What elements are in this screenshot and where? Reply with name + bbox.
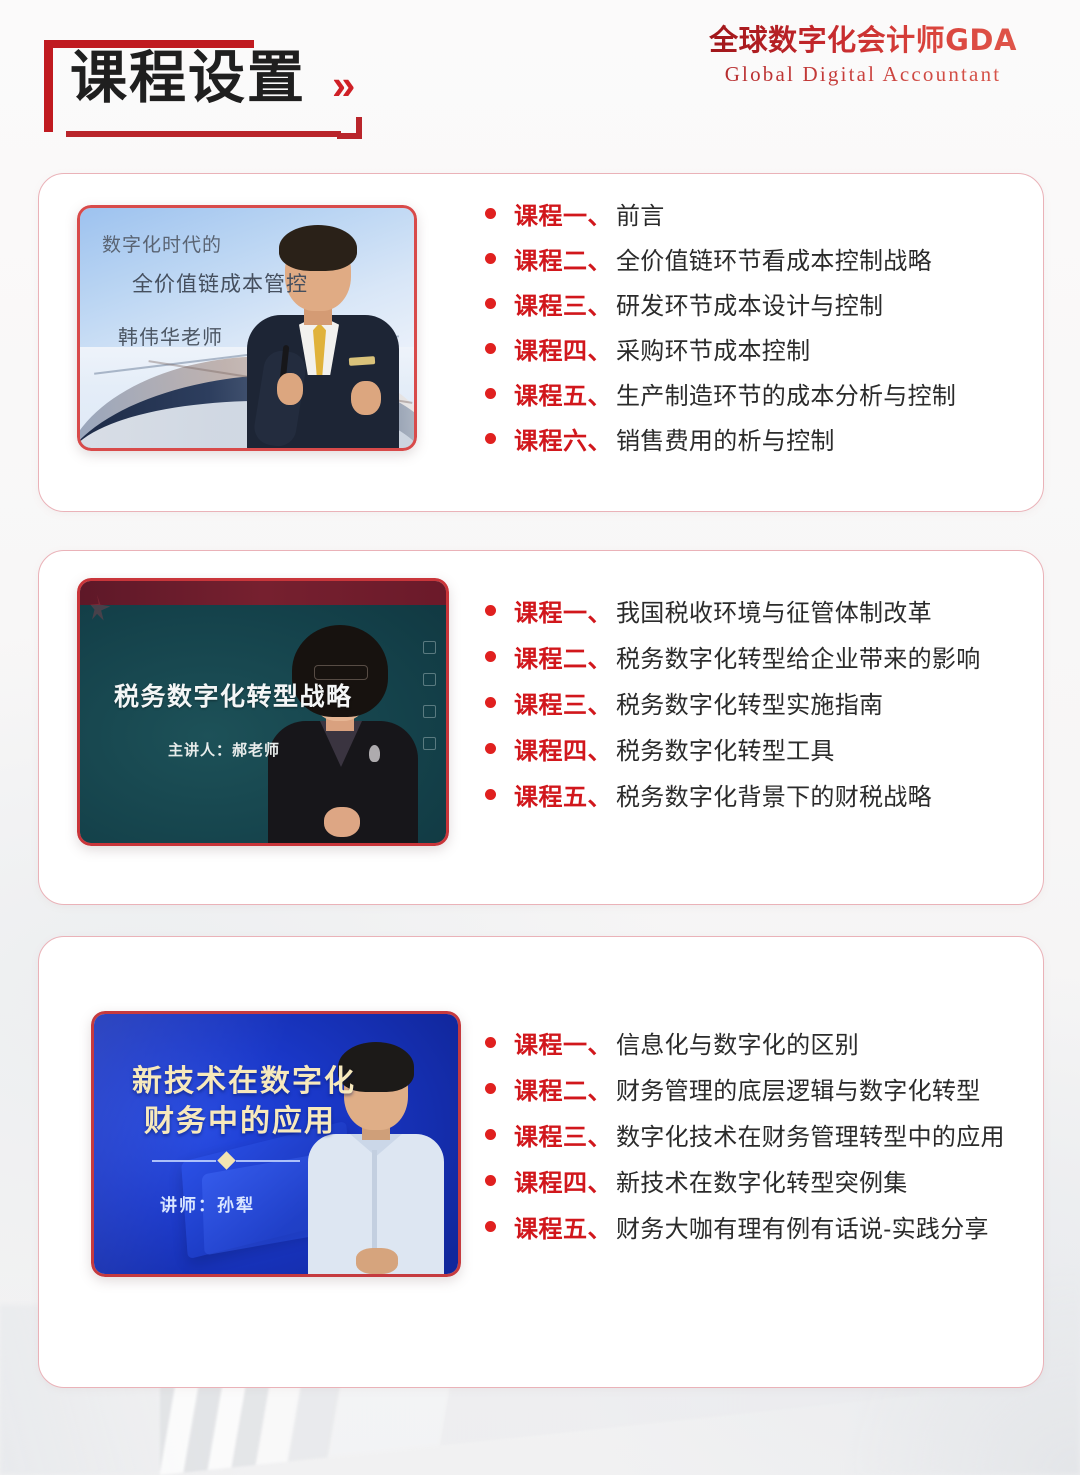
thumb2-title: 税务数字化转型战略 <box>114 677 353 713</box>
thumb3-instructor: 讲师：孙犁 <box>160 1191 255 1216</box>
course-text: 前言 <box>616 196 665 231</box>
page-title: 课程设置 <box>70 50 306 107</box>
list-item[interactable]: 课程二、 全价值链环节看成本控制战略 <box>485 241 956 286</box>
course-text: 生产制造环节的成本分析与控制 <box>616 376 956 411</box>
course-text: 税务数字化转型实施指南 <box>616 685 883 720</box>
bullet-icon <box>485 343 496 354</box>
list-item[interactable]: 课程一、 我国税收环境与征管体制改革 <box>485 593 981 639</box>
thumb1-title-line2: 全价值链成本管控 <box>132 268 308 298</box>
list-item[interactable]: 课程三、 税务数字化转型实施指南 <box>485 685 981 731</box>
list-item[interactable]: 课程五、 财务大咖有理有例有话说-实践分享 <box>485 1209 1005 1255</box>
course-label: 课程三、 <box>514 286 616 321</box>
course-card-1[interactable]: 数字化时代的 全价值链成本管控 韩伟华老师 课程一、 前言 课程二、 全价值链环… <box>38 173 1044 512</box>
course-text: 全价值链环节看成本控制战略 <box>616 241 932 276</box>
instructor-photo-2 <box>268 625 418 843</box>
course-label: 课程一、 <box>514 196 616 231</box>
bracket-top-left-vertical <box>44 40 53 132</box>
bullet-icon <box>485 253 496 264</box>
list-item[interactable]: 课程一、 信息化与数字化的区别 <box>485 1025 1005 1071</box>
thumb2-instructor: 主讲人：郝老师 <box>168 739 280 760</box>
course-text: 税务数字化背景下的财税战略 <box>616 777 932 812</box>
thumb2-side-icons <box>423 641 437 751</box>
course-label: 课程二、 <box>514 241 616 276</box>
list-item[interactable]: 课程一、 前言 <box>485 196 956 241</box>
list-item[interactable]: 课程四、 采购环节成本控制 <box>485 331 956 376</box>
list-item[interactable]: 课程二、 财务管理的底层逻辑与数字化转型 <box>485 1071 1005 1117</box>
brand-lockup: 全球数字化会计师GDA Global Digital Accountant <box>698 22 1028 87</box>
course-label: 课程六、 <box>514 421 616 456</box>
course-text: 新技术在数字化转型突例集 <box>616 1163 908 1198</box>
thumb3-title-line1: 新技术在数字化 <box>132 1056 356 1100</box>
bullet-icon <box>485 1221 496 1232</box>
brand-name-cn: 全球数字化会计师GDA <box>698 22 1028 58</box>
bullet-icon <box>485 789 496 800</box>
list-item[interactable]: 课程五、 生产制造环节的成本分析与控制 <box>485 376 956 421</box>
course-card-3[interactable]: 新技术在数字化 财务中的应用 讲师：孙犁 课程一、 信息化与数字化的区别 课程二… <box>38 936 1044 1388</box>
course-label: 课程三、 <box>514 1117 616 1152</box>
star-icon <box>90 593 124 623</box>
course-thumbnail-1[interactable]: 数字化时代的 全价值链成本管控 韩伟华老师 <box>77 205 417 451</box>
bullet-icon <box>485 1175 496 1186</box>
course-text: 销售费用的析与控制 <box>616 421 835 456</box>
page-header: 课程设置 » 全球数字化会计师GDA Global Digital Accoun… <box>0 0 1080 165</box>
bullet-icon <box>485 388 496 399</box>
course-label: 课程二、 <box>514 1071 616 1106</box>
chevron-right-icon: » <box>332 64 355 106</box>
bullet-icon <box>485 433 496 444</box>
course-text: 采购环节成本控制 <box>616 331 810 366</box>
list-item[interactable]: 课程三、 研发环节成本设计与控制 <box>485 286 956 331</box>
course-label: 课程三、 <box>514 685 616 720</box>
course-label: 课程五、 <box>514 376 616 411</box>
course-label: 课程五、 <box>514 1209 616 1244</box>
course-thumbnail-2[interactable]: 税务数字化转型战略 主讲人：郝老师 <box>77 578 449 846</box>
bullet-icon <box>485 743 496 754</box>
course-label: 课程二、 <box>514 639 616 674</box>
bullet-icon <box>485 208 496 219</box>
bullet-icon <box>485 1083 496 1094</box>
course-text: 我国税收环境与征管体制改革 <box>616 593 932 628</box>
bracket-bottom-rule <box>66 131 341 137</box>
brand-name-en: Global Digital Accountant <box>698 62 1028 87</box>
course-text: 研发环节成本设计与控制 <box>616 286 883 321</box>
course-text: 财务管理的底层逻辑与数字化转型 <box>616 1071 981 1106</box>
course-text: 税务数字化转型工具 <box>616 731 835 766</box>
bullet-icon <box>485 1129 496 1140</box>
page-title-block: 课程设置 » <box>44 28 394 138</box>
course-label: 课程四、 <box>514 331 616 366</box>
thumb1-title-line1: 数字化时代的 <box>102 230 222 257</box>
list-item[interactable]: 课程二、 税务数字化转型给企业带来的影响 <box>485 639 981 685</box>
bullet-icon <box>485 1037 496 1048</box>
course-text: 财务大咖有理有例有话说-实践分享 <box>616 1209 989 1244</box>
course-list-1: 课程一、 前言 课程二、 全价值链环节看成本控制战略 课程三、 研发环节成本设计… <box>485 196 956 466</box>
bullet-icon <box>485 651 496 662</box>
bracket-bottom-right-horizontal <box>337 133 362 139</box>
thumb3-divider-right <box>236 1160 300 1162</box>
thumb3-divider-left <box>152 1160 216 1162</box>
course-card-2[interactable]: 税务数字化转型战略 主讲人：郝老师 课程一、 我国税收环境与征管体制改革 课程二… <box>38 550 1044 905</box>
bullet-icon <box>485 298 496 309</box>
course-text: 数字化技术在财务管理转型中的应用 <box>616 1117 1005 1152</box>
course-label: 课程五、 <box>514 777 616 812</box>
course-list-2: 课程一、 我国税收环境与征管体制改革 课程二、 税务数字化转型给企业带来的影响 … <box>485 593 981 823</box>
list-item[interactable]: 课程五、 税务数字化背景下的财税战略 <box>485 777 981 823</box>
course-thumbnail-3[interactable]: 新技术在数字化 财务中的应用 讲师：孙犁 <box>91 1011 461 1277</box>
list-item[interactable]: 课程四、 新技术在数字化转型突例集 <box>485 1163 1005 1209</box>
bullet-icon <box>485 605 496 616</box>
course-list-3: 课程一、 信息化与数字化的区别 课程二、 财务管理的底层逻辑与数字化转型 课程三… <box>485 1025 1005 1255</box>
list-item[interactable]: 课程四、 税务数字化转型工具 <box>485 731 981 777</box>
course-label: 课程一、 <box>514 593 616 628</box>
course-label: 课程四、 <box>514 731 616 766</box>
list-item[interactable]: 课程六、 销售费用的析与控制 <box>485 421 956 466</box>
course-label: 课程一、 <box>514 1025 616 1060</box>
instructor-photo-1 <box>241 223 406 448</box>
thumb1-instructor: 韩伟华老师 <box>118 321 223 350</box>
thumb2-top-band <box>80 581 446 605</box>
course-label: 课程四、 <box>514 1163 616 1198</box>
thumb3-title-line2: 财务中的应用 <box>144 1096 336 1140</box>
course-text: 税务数字化转型给企业带来的影响 <box>616 639 981 674</box>
course-text: 信息化与数字化的区别 <box>616 1025 859 1060</box>
bullet-icon <box>485 697 496 708</box>
list-item[interactable]: 课程三、 数字化技术在财务管理转型中的应用 <box>485 1117 1005 1163</box>
